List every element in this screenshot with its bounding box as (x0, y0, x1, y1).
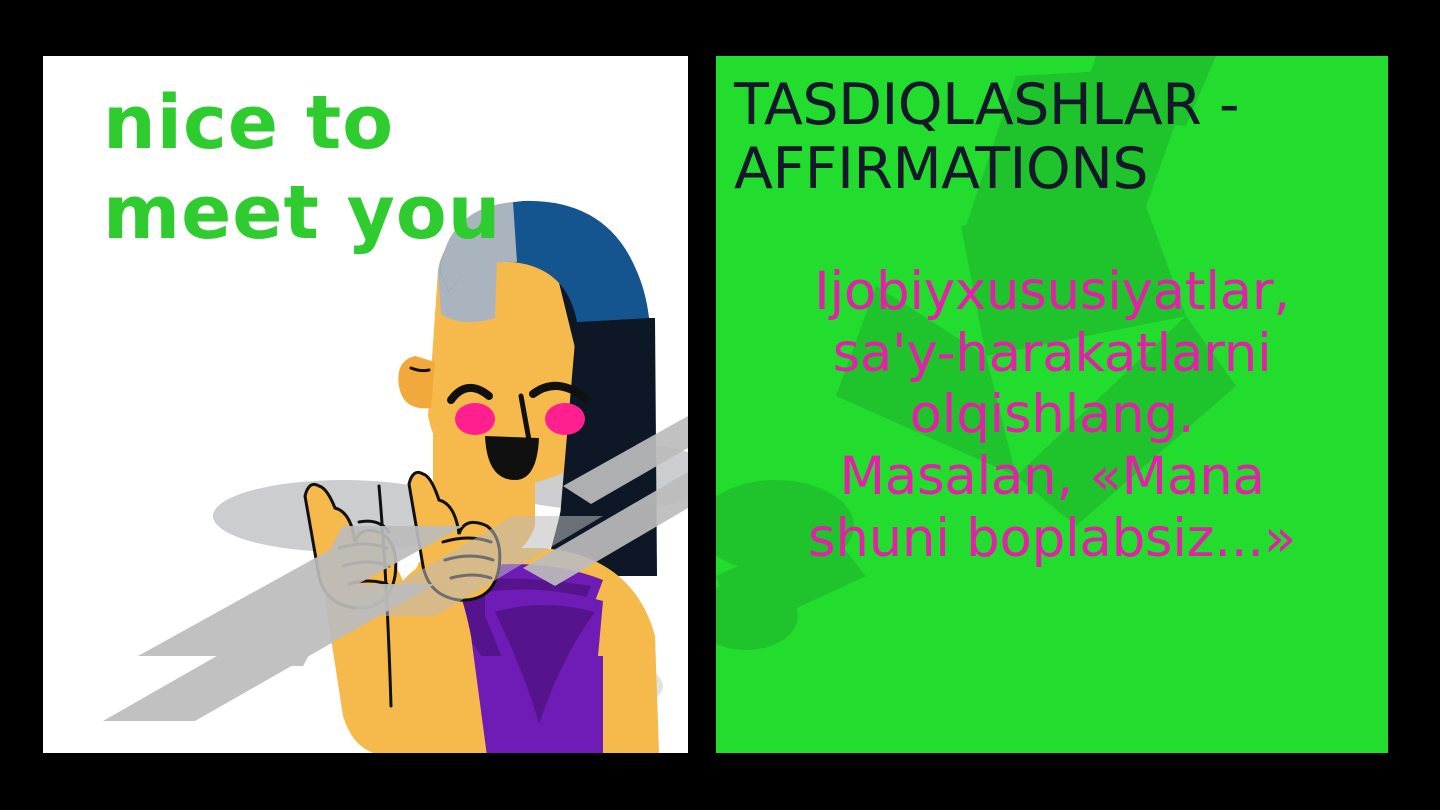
slide-root: nice to meet you TASDIQLASHLAR - AFFIRMA… (0, 0, 1440, 810)
card-body-text: Ijobiyxususiyatlar, sa'y-harakatlarni ol… (724, 261, 1380, 570)
greeting-text: nice to meet you (103, 78, 643, 259)
left-image-card: nice to meet you (43, 56, 688, 753)
right-card-content: TASDIQLASHLAR - AFFIRMATIONS Ijobiyxusus… (716, 56, 1388, 753)
card-title: TASDIQLASHLAR - AFFIRMATIONS (734, 74, 1374, 202)
right-text-card: TASDIQLASHLAR - AFFIRMATIONS Ijobiyxusus… (716, 56, 1388, 753)
